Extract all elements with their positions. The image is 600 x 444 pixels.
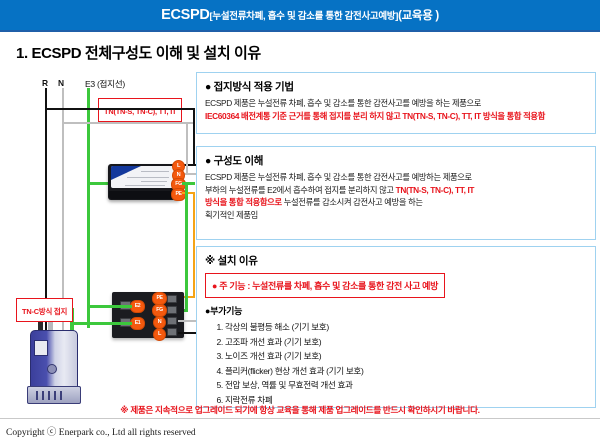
panel-grounding-method-heading: ● 접지방식 적용 기법 xyxy=(205,79,595,94)
boiler-appliance xyxy=(24,308,84,402)
label-phase-n: N xyxy=(58,78,64,88)
screw-fg xyxy=(167,306,177,314)
panel-configuration-line3: 방식을 통합 적용함으로 누설전류를 감소시켜 감전사고 예방을 하는 xyxy=(205,196,595,209)
panel-configuration: ● 구성도 이해 ECSPD 제품은 누설전류 차폐, 흡수 및 감소를 통한 … xyxy=(196,146,596,240)
configuration-line3-plain: 누설전류를 감소시켜 감전사고 예방을 하는 xyxy=(284,197,423,207)
label-earth-e3: E3 (접지선) xyxy=(85,78,125,90)
panel-configuration-line4: 획기적인 제품임 xyxy=(205,209,595,222)
list-item: 노이즈 개선 효과 (기기 보호) xyxy=(225,349,595,364)
main-function-box: ● 주 기능 : 누설전류를 차폐, 흡수 및 감소를 통한 감전 사고 예방 xyxy=(205,273,445,298)
wire-l-horizontal xyxy=(45,108,195,110)
grounding-red-b: TN(TN-S, TN-C), TT, IT 방식을 통합 적용함 xyxy=(402,111,545,121)
tag-tnc-ground-text: TN-C방식 접지 xyxy=(22,307,67,316)
screw-n xyxy=(167,317,177,325)
boiler-body xyxy=(30,330,78,390)
header-bar: ECSPD[누설전류차폐, 흡수 및 감소를 통한 감전사고예방](교육용 ) xyxy=(0,0,600,30)
slide-canvas: ECSPD[누설전류차폐, 흡수 및 감소를 통한 감전사고예방](교육용 ) … xyxy=(0,0,600,444)
wire-fg-green-v xyxy=(185,182,188,311)
panel-configuration-line1: ECSPD 제품은 누설전류 차폐, 흡수 및 감소를 통한 감전사고를 예방하… xyxy=(205,171,595,184)
module-upper-faceplate xyxy=(111,166,177,188)
main-function-text: ● 주 기능 : 누설전류를 차폐, 흡수 및 감소를 통한 감전 사고 예방 xyxy=(212,281,438,291)
boiler-base-unit xyxy=(27,386,81,404)
configuration-line2-red: TN(TN-S, TN-C), TT, IT xyxy=(396,185,474,195)
configuration-line3-red: 방식을 통합 적용함으로 xyxy=(205,197,282,207)
list-item: 전압 보상, 역률 및 무효전력 개선 효과 xyxy=(225,378,595,393)
header-brand: ECSPD xyxy=(161,7,209,23)
panel-install-reason-heading: ※ 설치 이유 xyxy=(205,253,595,268)
header-edition: (교육용 ) xyxy=(398,10,439,22)
screw-l xyxy=(167,328,177,336)
extra-functions-heading: ●부가기능 xyxy=(205,304,595,317)
copyright-text: Copyright ⓒ Enerpark co., Ltd all rights… xyxy=(6,424,196,438)
label-phase-r: R xyxy=(42,78,48,88)
boiler-knob xyxy=(47,364,57,374)
footer-notice: ※ 제품은 지속적으로 업그레이드 되기에 항상 교육을 통해 제품 업그레이드… xyxy=(0,404,600,416)
header-subtitle: [누설전류차폐, 흡수 및 감소를 통한 감전사고예방] xyxy=(210,11,399,22)
ecspd-module-upper xyxy=(108,164,180,200)
wire-bot-n-feed xyxy=(178,320,196,322)
screw-pe xyxy=(167,295,177,303)
terminal-bot-e2: E2 xyxy=(130,300,145,313)
terminal-bot-l: L xyxy=(153,328,166,341)
panel-grounding-method-line2: IEC60364 배전계통 기준 근거를 통해 접지를 분리 하지 않고 TN(… xyxy=(205,110,595,123)
wire-e2-green xyxy=(87,305,132,308)
panel-grounding-method-line1: ECSPD 제품은 누설전류 차폐, 흡수 및 감소를 통한 감전사고를 예방을… xyxy=(205,97,595,110)
list-item: 플리커(flicker) 현상 개선 효과 (기기 보호) xyxy=(225,364,595,379)
ecspd-module-lower xyxy=(112,292,184,338)
module-upper-base xyxy=(109,191,179,199)
wire-n-drop xyxy=(186,122,188,175)
footer-divider xyxy=(0,418,600,419)
wiring-diagram: R N E3 (접지선) TN(TN-S, TN-C), TT, IT xyxy=(0,60,196,404)
header-title: ECSPD[누설전류차폐, 흡수 및 감소를 통한 감전사고예방](교육용 ) xyxy=(161,7,439,23)
panel-configuration-heading: ● 구성도 이해 xyxy=(205,153,595,168)
configuration-line2-plain: 부하의 누설전류를 E2에서 흡수하여 접지를 분리하지 않고 xyxy=(205,185,394,195)
wire-bot-l-feed xyxy=(178,332,196,334)
wire-n-horizontal xyxy=(62,122,195,124)
boiler-control-panel xyxy=(34,340,48,356)
extra-functions-list: 각상의 불평등 해소 (기기 보호) 고조파 개선 효과 (기기 보호) 노이즈… xyxy=(205,320,595,408)
panel-install-reason: ※ 설치 이유 ● 주 기능 : 누설전류를 차폐, 흡수 및 감소를 통한 감… xyxy=(196,246,596,408)
terminal-bot-e1: E1 xyxy=(130,317,145,330)
list-item: 각상의 불평등 해소 (기기 보호) xyxy=(225,320,595,335)
tag-tnc-ground: TN-C방식 접지 xyxy=(16,298,73,322)
list-item: 고조파 개선 효과 (기기 보호) xyxy=(225,335,595,350)
panel-configuration-line2: 부하의 누설전류를 E2에서 흡수하여 접지를 분리하지 않고 TN(TN-S,… xyxy=(205,184,595,197)
terminal-top-pe: PE xyxy=(171,188,186,201)
grounding-red-a: IEC60364 배전계통 기준 근거를 통해 접지를 분리 하지 않고 xyxy=(205,111,400,121)
panel-grounding-method: ● 접지방식 적용 기법 ECSPD 제품은 누설전류 차폐, 흡수 및 감소를… xyxy=(196,72,596,134)
header-divider xyxy=(0,30,600,32)
